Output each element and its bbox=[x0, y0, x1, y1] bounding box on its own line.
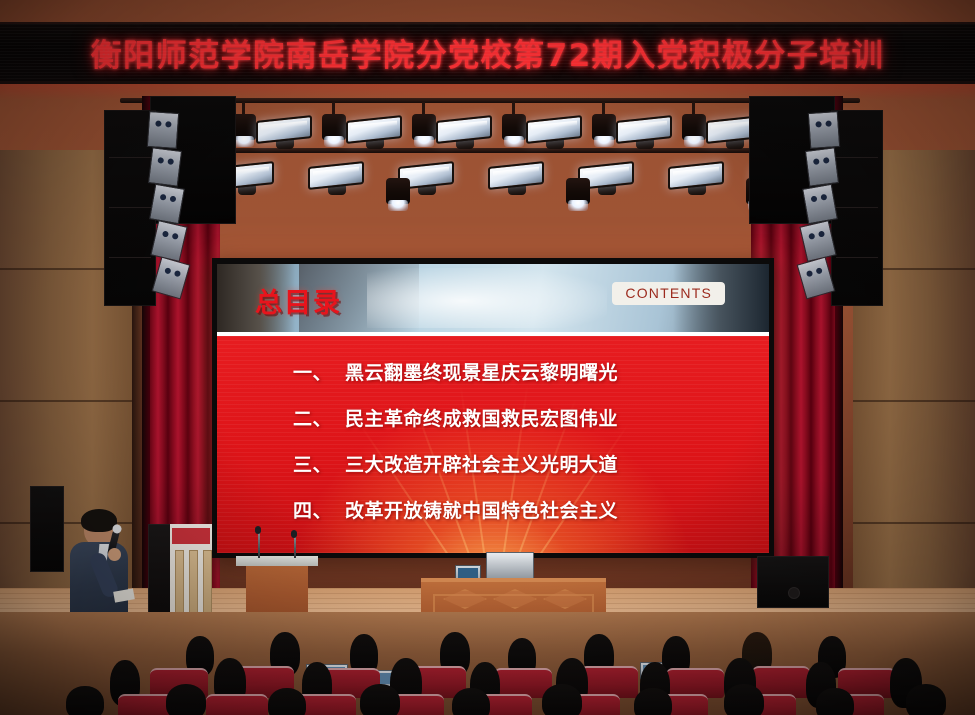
audience-head bbox=[724, 684, 764, 715]
led-wash-panel bbox=[668, 161, 724, 190]
led-wash-panel bbox=[526, 115, 582, 144]
spotlight-icon bbox=[502, 114, 526, 140]
spotlight-icon bbox=[386, 178, 410, 204]
led-wash-panel bbox=[256, 115, 312, 144]
slide-body: 一、 黑云翻墨终现景星庆云黎明曙光 二、 民主革命终成救国救民宏图伟业 三、 三… bbox=[217, 336, 769, 553]
presenter-notes bbox=[113, 588, 135, 602]
audience-head bbox=[268, 688, 306, 715]
audience-head bbox=[816, 688, 854, 715]
led-wash-panel bbox=[488, 161, 544, 190]
toc-item-text: 民主革命终成救国救民宏图伟业 bbox=[345, 404, 618, 431]
auditorium-scene: 衡阳师范学院南岳学院分党校第72期入党积极分子培训 bbox=[0, 0, 975, 715]
spotlight-icon bbox=[412, 114, 436, 140]
audience-head bbox=[166, 684, 206, 715]
stage-monitor-left bbox=[30, 486, 64, 572]
toc-item: 三、 三大改造开辟社会主义光明大道 bbox=[293, 450, 693, 477]
table-of-contents-list: 一、 黑云翻墨终现景星庆云黎明曙光 二、 民主革命终成救国救民宏图伟业 三、 三… bbox=[217, 336, 769, 523]
slide-title: 总目录 bbox=[255, 281, 342, 320]
toc-item-number: 一、 bbox=[293, 358, 345, 385]
audience-head bbox=[906, 684, 946, 715]
spotlight-icon bbox=[592, 114, 616, 140]
seated-audience bbox=[0, 612, 975, 715]
led-wash-panel bbox=[436, 115, 492, 144]
toc-item-number: 四、 bbox=[293, 496, 345, 523]
led-wash-panel bbox=[308, 161, 364, 190]
audience-head bbox=[452, 688, 490, 715]
toc-item-number: 二、 bbox=[293, 404, 345, 431]
podium-red-label bbox=[172, 528, 210, 544]
presenter-hand bbox=[108, 548, 121, 561]
line-array-speaker-left bbox=[104, 110, 182, 310]
toc-item-text: 三大改造开辟社会主义光明大道 bbox=[345, 450, 618, 477]
toc-item: 二、 民主革命终成救国救民宏图伟业 bbox=[293, 404, 693, 431]
toc-item-text: 黑云翻墨终现景星庆云黎明曙光 bbox=[345, 358, 618, 385]
contents-badge: CONTENTS bbox=[612, 282, 725, 305]
audience-head bbox=[360, 684, 400, 715]
toc-item: 四、 改革开放铸就中国特色社会主义 bbox=[293, 496, 693, 523]
toc-item: 一、 黑云翻墨终现景星庆云黎明曙光 bbox=[293, 358, 693, 385]
spotlight-icon bbox=[682, 114, 706, 140]
audience-head bbox=[66, 686, 104, 715]
microphone-stand-icon bbox=[258, 532, 260, 558]
led-title-banner: 衡阳师范学院南岳学院分党校第72期入党积极分子培训 bbox=[0, 22, 975, 84]
audience-head bbox=[542, 684, 582, 715]
audience-head bbox=[634, 688, 672, 715]
microphone-icon bbox=[291, 530, 297, 538]
theater-seat bbox=[206, 694, 268, 715]
line-array-speaker-right bbox=[805, 110, 883, 310]
slide-header: 总目录 CONTENTS bbox=[217, 264, 769, 332]
stage-subwoofer bbox=[757, 556, 829, 608]
microphone-stand-icon bbox=[294, 536, 296, 558]
spotlight-icon bbox=[322, 114, 346, 140]
banner-title-text: 衡阳师范学院南岳学院分党校第72期入党积极分子培训 bbox=[91, 30, 885, 75]
spotlight-icon bbox=[566, 178, 590, 204]
led-wash-panel bbox=[346, 115, 402, 144]
microphone-icon bbox=[255, 526, 261, 534]
led-wash-panel bbox=[616, 115, 672, 144]
presentation-screen: 总目录 CONTENTS 一、 黑云翻墨终现景星庆云黎明曙光 二、 bbox=[212, 258, 774, 558]
toc-item-text: 改革开放铸就中国特色社会主义 bbox=[345, 496, 618, 523]
toc-item-number: 三、 bbox=[293, 450, 345, 477]
